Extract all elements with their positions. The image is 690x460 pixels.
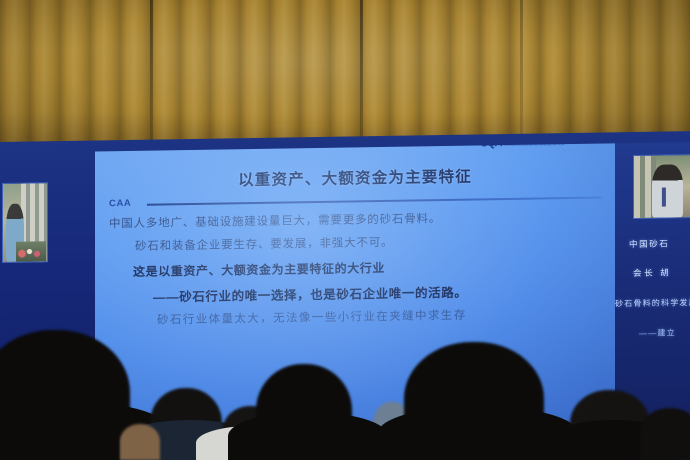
right-panel-line-2: 会长 胡	[633, 266, 671, 279]
logo-en-text: CHINA AGGREGATES ASSOCIATION	[504, 143, 564, 147]
curtain-seam	[150, 0, 153, 160]
slide-body-line-5: 砂石行业体量太大，无法像一些小行业在夹缝中求生存	[157, 307, 467, 328]
slide-body-line-2: 砂石和装备企业要生存、要发展，非强大不可。	[135, 234, 393, 254]
speaker-video-right	[633, 154, 690, 219]
speaker-video-left	[2, 182, 48, 263]
right-panel-line-3: 砂石骨料的科学发展	[615, 297, 690, 309]
slide-title: 以重资产、大额资金为主要特征	[95, 162, 615, 192]
conference-photo-scene: CQA 中国砂石协会 CHINA AGGREGATES ASSOCIATION …	[0, 0, 690, 460]
slide-body-line-3: 这是以重资产、大额资金为主要特征的大行业	[133, 259, 385, 280]
right-panel-line-1: 中国砂石	[629, 237, 669, 250]
left-wall-panel	[0, 152, 95, 460]
caa-mark: CAA	[109, 198, 131, 209]
slide-body-line-1: 中国人多地广、基础设施建设量巨大，需要更多的砂石骨料。	[109, 210, 441, 231]
header-divider	[147, 197, 601, 206]
right-panel-line-5: 砂石	[633, 443, 650, 454]
slide-body-line-4: ——砂石行业的唯一选择，也是砂石企业唯一的活路。	[153, 282, 467, 306]
right-wall-panel: 中国砂石 会长 胡 砂石骨料的科学发展 ——建立 砂石	[615, 142, 690, 450]
caa-logo: CQA 中国砂石协会 CHINA AGGREGATES ASSOCIATION	[480, 143, 564, 149]
caa-header-row: CAA	[109, 191, 601, 213]
logo-mark-text: CQA	[480, 143, 501, 149]
right-panel-line-4: ——建立	[639, 327, 676, 339]
led-video-wall: CQA 中国砂石协会 CHINA AGGREGATES ASSOCIATION …	[0, 131, 690, 460]
presentation-slide: CQA 中国砂石协会 CHINA AGGREGATES ASSOCIATION …	[95, 143, 615, 458]
